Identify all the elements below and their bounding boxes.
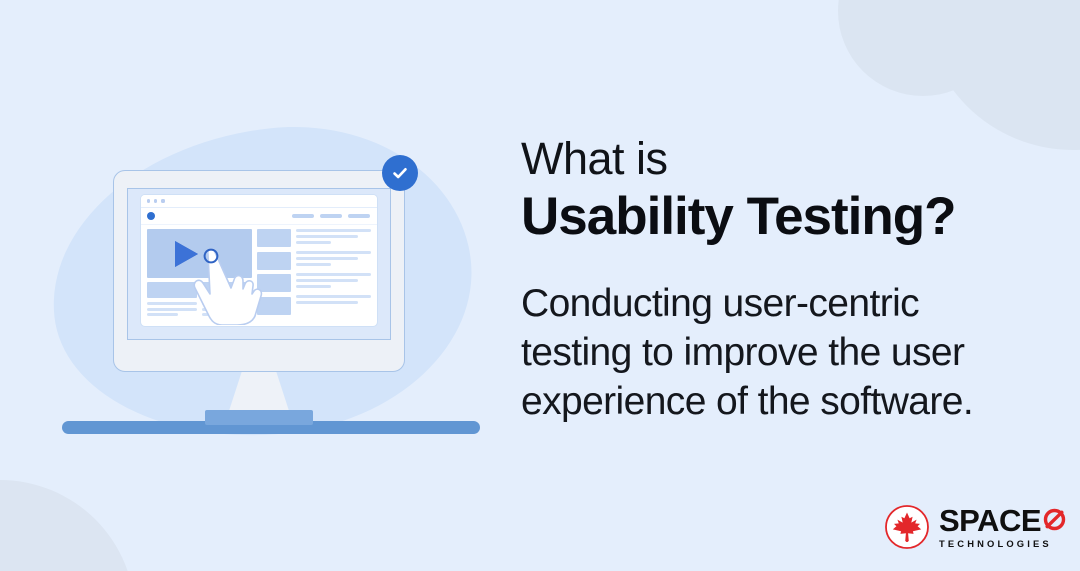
logo-slashed-o xyxy=(1042,506,1067,531)
text-line-column xyxy=(202,302,252,316)
text-line xyxy=(296,301,358,304)
text-line xyxy=(296,279,358,282)
text-line xyxy=(296,285,331,288)
browser-titlebar xyxy=(141,195,377,208)
text-line xyxy=(202,302,252,305)
promo-card: What is Usability Testing? Conducting us… xyxy=(0,0,1080,571)
thumbnail xyxy=(257,297,291,315)
text-line xyxy=(296,295,371,298)
sidebar-text-block xyxy=(296,273,371,288)
text-line xyxy=(147,313,178,316)
sidebar-text-block xyxy=(296,295,371,304)
window-dot-maximize xyxy=(161,199,164,202)
text-line xyxy=(202,308,252,311)
browser-window-mockup xyxy=(140,194,378,327)
text-line xyxy=(202,313,233,316)
thumbnail xyxy=(257,252,291,270)
text-line xyxy=(296,229,371,232)
text-line xyxy=(296,263,331,266)
hero-video-block xyxy=(147,229,252,278)
monitor-stand-base xyxy=(205,410,313,425)
text-line xyxy=(296,241,331,244)
logo-tagline: TECHNOLOGIES xyxy=(939,539,1067,548)
eyebrow-text: What is xyxy=(521,136,1041,181)
site-logo-dot xyxy=(147,212,155,220)
content-column-main xyxy=(147,229,252,322)
thumbnail xyxy=(257,229,291,247)
content-card xyxy=(147,282,197,298)
nav-link-placeholder xyxy=(348,214,370,218)
sidebar-text-block xyxy=(296,229,371,244)
company-logo: SPACE TECHNOLOGIES xyxy=(884,504,1067,550)
text-line xyxy=(296,235,358,238)
text-line-column xyxy=(147,302,197,316)
content-card xyxy=(202,282,252,298)
thumbnail-column xyxy=(257,229,291,322)
decorative-circle-top-large xyxy=(923,0,1080,150)
logo-wordmark: SPACE xyxy=(939,505,1067,536)
text-line xyxy=(147,302,197,305)
browser-content xyxy=(141,225,377,327)
text-line-group xyxy=(147,302,252,316)
check-icon xyxy=(390,163,410,183)
text-line xyxy=(296,273,371,276)
thumbnail xyxy=(257,274,291,292)
check-badge xyxy=(382,155,418,191)
logo-word-space: SPACE xyxy=(939,505,1041,536)
text-line xyxy=(147,308,197,311)
nav-links xyxy=(292,214,370,218)
content-column-sidebar xyxy=(296,229,371,322)
page-title: Usability Testing? xyxy=(521,187,1041,246)
card-row xyxy=(147,282,252,298)
play-icon xyxy=(175,241,198,267)
canada-maple-leaf-icon xyxy=(884,504,930,550)
text-line xyxy=(296,257,358,260)
nav-link-placeholder xyxy=(320,214,342,218)
text-content: What is Usability Testing? Conducting us… xyxy=(521,136,1041,427)
text-line xyxy=(296,251,371,254)
sidebar-text-block xyxy=(296,251,371,266)
window-dot-minimize xyxy=(154,199,157,202)
body-text: Conducting user-centric testing to impro… xyxy=(521,280,1021,426)
logo-text: SPACE TECHNOLOGIES xyxy=(939,505,1067,548)
nav-link-placeholder xyxy=(292,214,314,218)
browser-navbar xyxy=(141,208,377,225)
decorative-circle-bottom-left xyxy=(0,480,135,571)
window-dot-close xyxy=(147,199,150,202)
